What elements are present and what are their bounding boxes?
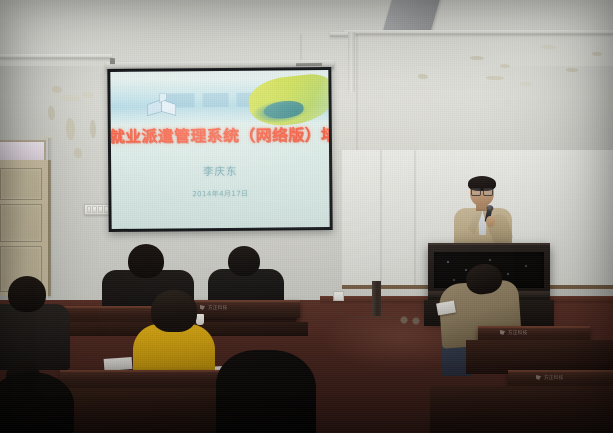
door-panel-top [0,168,42,200]
attendee-head [8,276,46,312]
paint-peel [520,82,532,86]
slide-date: 2014年4月17日 [111,188,329,200]
paint-peel [540,45,556,49]
classroom-photograph: 就业派遣管理系统（网络版）培训 李庆东 2014年4月17日 [0,0,613,433]
notebook-paper [104,357,133,371]
wall-molding-right [344,30,613,35]
paint-peel [66,118,75,140]
paint-peel [486,76,504,80]
attendee-head [128,244,164,278]
slide-title: 就业派遣管理系统（网络版）培训 [110,123,329,147]
desk-right [466,340,613,374]
paint-peel [48,106,55,120]
foreground-attendee-2 [216,350,316,433]
wall-seam-b [356,34,358,152]
attendee-head [228,246,260,276]
ceiling-hanging-panel [383,0,441,30]
light-switch[interactable] [87,206,92,213]
wall-molding-left [0,54,112,59]
projected-slide: 就业派遣管理系统（网络版）培训 李庆东 2014年4月17日 [110,70,329,229]
projection-screen: 就业派遣管理系统（网络版）培训 李庆东 2014年4月17日 [107,67,332,232]
attendee-head [151,290,197,332]
door-panel-mid [0,204,42,242]
light-switch-panel-left[interactable] [84,204,111,215]
paint-peel [90,120,96,138]
whiteboard-seam [414,150,416,285]
wall-molding-mid [330,32,350,37]
paint-peel [470,56,484,60]
lens-right [483,188,493,196]
paint-peel [60,95,80,101]
whiteboard-seam [380,150,382,285]
paint-peel [566,68,578,72]
presenter-hand [486,216,495,227]
bench-brand-label: 方正科技 [544,375,564,381]
light-switch[interactable] [92,206,97,213]
door-frame-shadow [48,138,53,298]
screen-bracket [110,58,115,64]
presenter-figure [452,178,516,248]
eyeglasses-icon [471,188,493,194]
open-book-icon [145,93,179,117]
light-switch[interactable] [98,206,103,213]
paint-peel [500,64,510,68]
door-transom-window [0,140,46,162]
desk-right-front [430,386,613,433]
wall-vertical-beam [348,32,355,92]
paint-peel [418,74,428,79]
wall-post [372,281,381,316]
paint-peel [74,148,82,158]
paint-peel [592,52,602,56]
paint-peel [82,92,94,98]
paint-peel [52,86,62,93]
power-cable [333,297,396,318]
screen-brand-logo [296,63,322,66]
bench-brand-label: 方正科技 [508,330,528,336]
slide-presenter: 李庆东 [111,163,329,180]
